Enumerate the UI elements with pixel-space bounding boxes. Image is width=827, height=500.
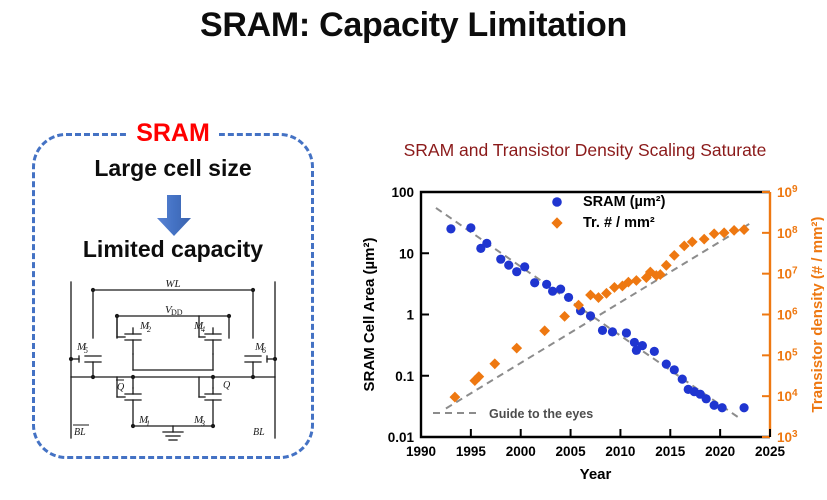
data-point-sram	[548, 287, 557, 296]
data-point-sram	[702, 394, 711, 403]
label-bl: BL	[253, 427, 265, 438]
y-left-axis-title: SRAM Cell Area (µm²)	[361, 238, 378, 392]
x-tick-label: 1995	[456, 444, 487, 459]
data-point-density	[559, 311, 570, 322]
y-right-tick-label: 104	[777, 388, 798, 404]
data-point-density	[661, 260, 672, 271]
large-cell-size-text: Large cell size	[32, 155, 314, 182]
legend-label: Tr. # / mm²	[583, 215, 655, 231]
label-wl: WL	[165, 278, 180, 290]
label-bl-bar: BL	[74, 427, 86, 438]
y-left-tick-label: 1	[406, 308, 414, 323]
label-m3-sub: 3	[200, 419, 205, 428]
data-point-sram	[482, 239, 491, 248]
density-guide	[446, 223, 750, 408]
chart-canvas: 1001010.10.01109108107106105104103199019…	[352, 166, 824, 496]
y-right-tick-label: 106	[777, 307, 798, 323]
y-right-tick-label: 105	[777, 347, 798, 363]
y-left-tick-label: 0.1	[395, 369, 414, 384]
y-left-tick-label: 10	[399, 246, 414, 261]
x-tick-label: 2020	[705, 444, 735, 459]
data-point-density	[709, 228, 720, 239]
y-right-axis-title: Transistor density (# / mm²)	[809, 217, 824, 413]
y-right-tick-label: 108	[777, 225, 798, 241]
data-point-sram	[662, 359, 671, 368]
x-tick-label: 2015	[655, 444, 686, 459]
y-right-tick-label: 109	[777, 184, 798, 200]
data-point-sram	[496, 255, 505, 264]
x-tick-label: 2010	[605, 444, 635, 459]
guide-annotation-label: Guide to the eyes	[489, 407, 593, 421]
chart-title: SRAM and Transistor Density Scaling Satu…	[352, 140, 818, 161]
label-m6-sub: 6	[262, 346, 266, 355]
data-point-density	[631, 275, 642, 286]
legend-label: SRAM (µm²)	[583, 194, 666, 210]
data-point-sram	[739, 403, 748, 412]
data-point-density	[669, 250, 680, 261]
scaling-chart: SRAM and Transistor Density Scaling Satu…	[352, 140, 824, 495]
label-m5-sub: 5	[84, 346, 88, 355]
label-m1-sub: 1	[146, 419, 150, 428]
label-qbar: Q	[117, 382, 125, 393]
data-point-density	[609, 282, 620, 293]
data-point-sram	[710, 401, 719, 410]
sram-cell-schematic: WL V DD M 5 M 6 M 2 M 4 M 1 M 3 Q Q BL B…	[57, 276, 289, 444]
legend-marker-density	[551, 217, 562, 229]
y-left-tick-label: 100	[391, 185, 414, 200]
data-point-density	[511, 343, 522, 354]
data-point-sram	[622, 328, 631, 337]
legend-marker-sram	[552, 197, 562, 207]
x-axis-title: Year	[580, 466, 612, 483]
x-tick-label: 2005	[556, 444, 587, 459]
data-point-sram	[650, 347, 659, 356]
data-point-sram	[446, 224, 455, 233]
x-tick-label: 2000	[506, 444, 536, 459]
x-tick-label: 2025	[755, 444, 786, 459]
data-point-sram	[586, 311, 595, 320]
data-point-density	[729, 225, 740, 236]
data-point-sram	[564, 293, 573, 302]
data-point-density	[489, 358, 500, 369]
x-tick-label: 1990	[406, 444, 436, 459]
y-left-tick-label: 0.01	[388, 430, 415, 445]
data-point-sram	[598, 326, 607, 335]
data-point-sram	[466, 223, 475, 232]
page-title: SRAM: Capacity Limitation	[0, 6, 827, 45]
data-point-sram	[608, 327, 617, 336]
label-vdd-sub: DD	[171, 308, 183, 317]
data-point-sram	[638, 341, 647, 350]
label-m4-sub: 4	[201, 325, 205, 334]
data-point-sram	[512, 267, 521, 276]
y-right-tick-label: 103	[777, 429, 798, 445]
data-point-sram	[630, 338, 639, 347]
data-point-sram	[678, 375, 687, 384]
data-point-density	[585, 290, 596, 301]
data-point-sram	[530, 278, 539, 287]
limited-capacity-text: Limited capacity	[32, 236, 314, 263]
y-right-tick-label: 107	[777, 266, 798, 282]
label-q: Q	[223, 380, 231, 391]
data-point-sram	[556, 284, 565, 293]
data-point-sram	[504, 261, 513, 270]
data-point-sram	[670, 365, 679, 374]
data-point-sram	[520, 262, 529, 271]
data-point-density	[539, 325, 550, 336]
data-point-density	[699, 234, 710, 245]
down-arrow-icon	[154, 193, 194, 238]
data-point-sram	[718, 403, 727, 412]
label-m2-sub: 2	[147, 325, 151, 334]
